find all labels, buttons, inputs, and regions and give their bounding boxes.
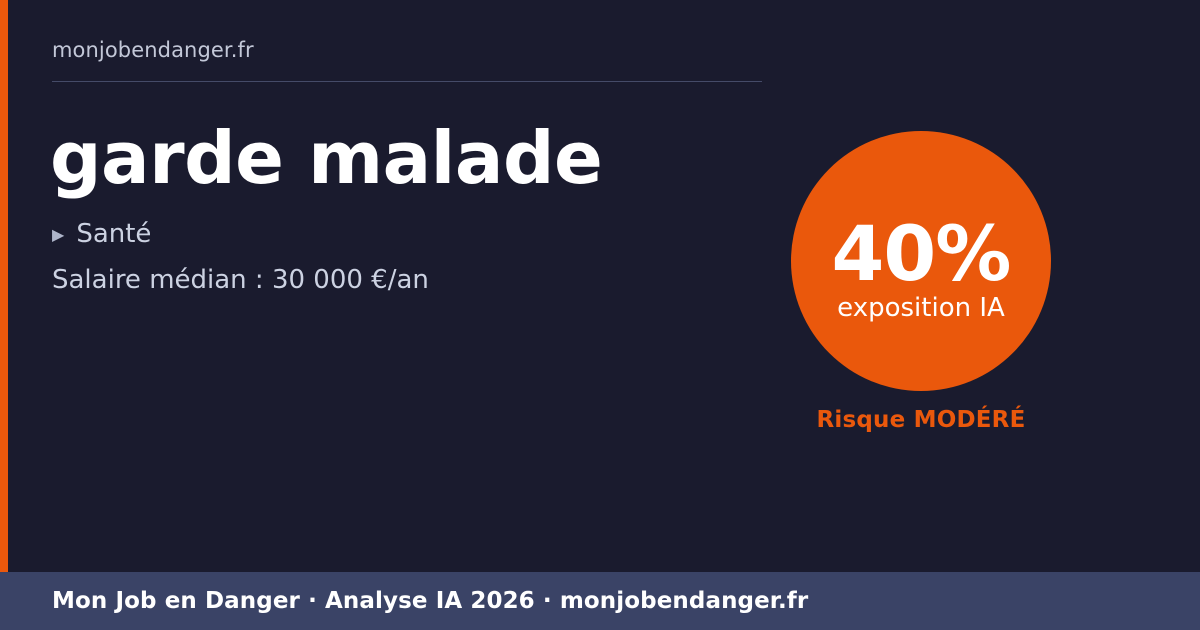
exposure-badge: 40% exposition IA xyxy=(791,131,1051,391)
header-divider xyxy=(52,81,762,82)
social-card: monjobendanger.fr garde malade ▶ Santé S… xyxy=(0,0,1200,630)
footer-text: Mon Job en Danger · Analyse IA 2026 · mo… xyxy=(52,590,808,613)
site-footer: Mon Job en Danger · Analyse IA 2026 · mo… xyxy=(0,572,1200,630)
exposure-caption: exposition IA xyxy=(837,295,1005,321)
exposure-percentage: 40% xyxy=(832,219,1011,289)
median-salary-text: Salaire médian : 30 000 €/an xyxy=(52,267,429,293)
exposure-circle: 40% exposition IA xyxy=(791,131,1051,391)
left-accent-stripe xyxy=(0,0,8,572)
site-header: monjobendanger.fr xyxy=(52,40,762,61)
page-title: garde malade xyxy=(50,118,602,199)
risk-status-badge: Risque MODÉRÉ xyxy=(791,409,1051,432)
site-domain: monjobendanger.fr xyxy=(52,40,762,61)
triangle-right-icon: ▶ xyxy=(52,227,64,243)
category-label: Santé xyxy=(76,221,151,247)
category-row: ▶ Santé xyxy=(52,221,151,247)
